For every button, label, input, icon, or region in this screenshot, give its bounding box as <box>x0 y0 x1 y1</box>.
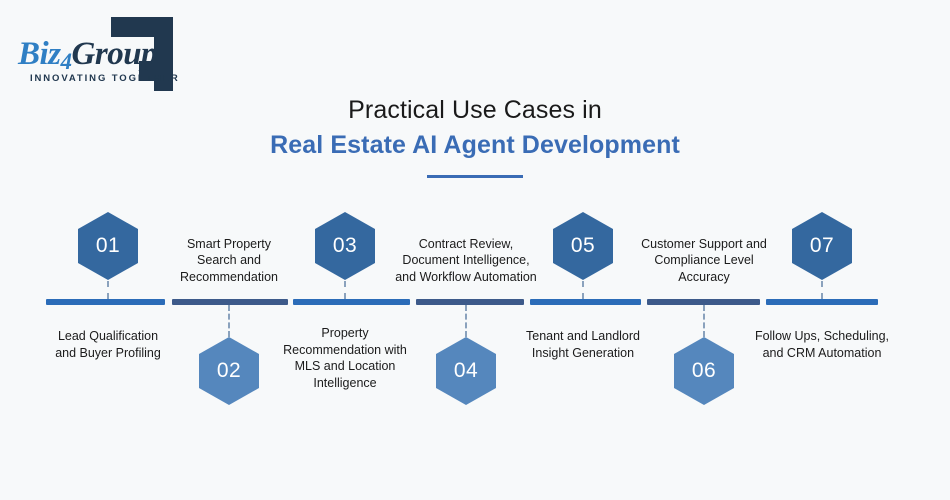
step-label-line: Compliance Level <box>617 252 792 269</box>
step-label-line: and Buyer Profiling <box>26 345 191 362</box>
step-number-02: 02 <box>217 359 241 383</box>
step-label-line: and CRM Automation <box>730 345 915 362</box>
step-connector-03 <box>344 281 346 299</box>
logo-tagline: INNOVATING TOGETHER <box>30 73 180 84</box>
step-hexagon-03[interactable]: 03 <box>315 212 375 280</box>
step-number-05: 05 <box>571 234 595 258</box>
step-caption-03: PropertyRecommendation withMLS and Locat… <box>263 325 428 391</box>
step-label-line: Lead Qualification <box>26 328 191 345</box>
step-label-line: Insight Generation <box>496 345 671 362</box>
step-label-line: and Workflow Automation <box>369 269 564 286</box>
step-label-line: Search and <box>154 252 304 269</box>
logo-wordmark: Biz4Group <box>18 36 157 73</box>
step-hexagon-07[interactable]: 07 <box>792 212 852 280</box>
step-number-03: 03 <box>333 234 357 258</box>
step-label-line: Follow Ups, Scheduling, <box>730 328 915 345</box>
step-connector-01 <box>107 281 109 299</box>
step-caption-04: Contract Review,Document Intelligence,an… <box>369 236 564 286</box>
step-caption-02: Smart PropertySearch andRecommendation <box>154 236 304 286</box>
step-label-line: Tenant and Landlord <box>496 328 671 345</box>
logo-word-biz: Biz <box>18 36 61 72</box>
timeline-bar-segment-07 <box>766 299 878 305</box>
step-hexagon-02[interactable]: 02 <box>199 337 259 405</box>
step-connector-05 <box>582 281 584 299</box>
logo-word-group: Group <box>72 36 158 72</box>
step-connector-06 <box>703 305 705 337</box>
step-caption-01: Lead Qualificationand Buyer Profiling <box>26 328 191 361</box>
timeline-bar-segment-01 <box>46 299 165 305</box>
step-label-line: Recommendation with <box>263 342 428 359</box>
timeline-bar-segment-02 <box>172 299 288 305</box>
step-number-04: 04 <box>454 359 478 383</box>
timeline-bar-segment-05 <box>530 299 641 305</box>
step-number-01: 01 <box>96 234 120 258</box>
step-label-line: Recommendation <box>154 269 304 286</box>
step-hexagon-06[interactable]: 06 <box>674 337 734 405</box>
step-number-07: 07 <box>810 234 834 258</box>
step-label-line: Contract Review, <box>369 236 564 253</box>
step-label-line: Accuracy <box>617 269 792 286</box>
timeline-bar-segment-03 <box>293 299 410 305</box>
step-label-line: Customer Support and <box>617 236 792 253</box>
step-number-06: 06 <box>692 359 716 383</box>
step-connector-04 <box>465 305 467 337</box>
step-hexagon-04[interactable]: 04 <box>436 337 496 405</box>
step-label-line: Document Intelligence, <box>369 252 564 269</box>
step-label-line: MLS and Location <box>263 358 428 375</box>
step-caption-06: Customer Support andCompliance LevelAccu… <box>617 236 792 286</box>
step-caption-07: Follow Ups, Scheduling,and CRM Automatio… <box>730 328 915 361</box>
step-connector-02 <box>228 305 230 337</box>
step-label-line: Property <box>263 325 428 342</box>
step-connector-07 <box>821 281 823 299</box>
logo-word-four: 4 <box>61 49 72 74</box>
step-label-line: Smart Property <box>154 236 304 253</box>
step-caption-05: Tenant and LandlordInsight Generation <box>496 328 671 361</box>
timeline-bar-segment-04 <box>416 299 524 305</box>
step-hexagon-01[interactable]: 01 <box>78 212 138 280</box>
step-label-line: Intelligence <box>263 375 428 392</box>
